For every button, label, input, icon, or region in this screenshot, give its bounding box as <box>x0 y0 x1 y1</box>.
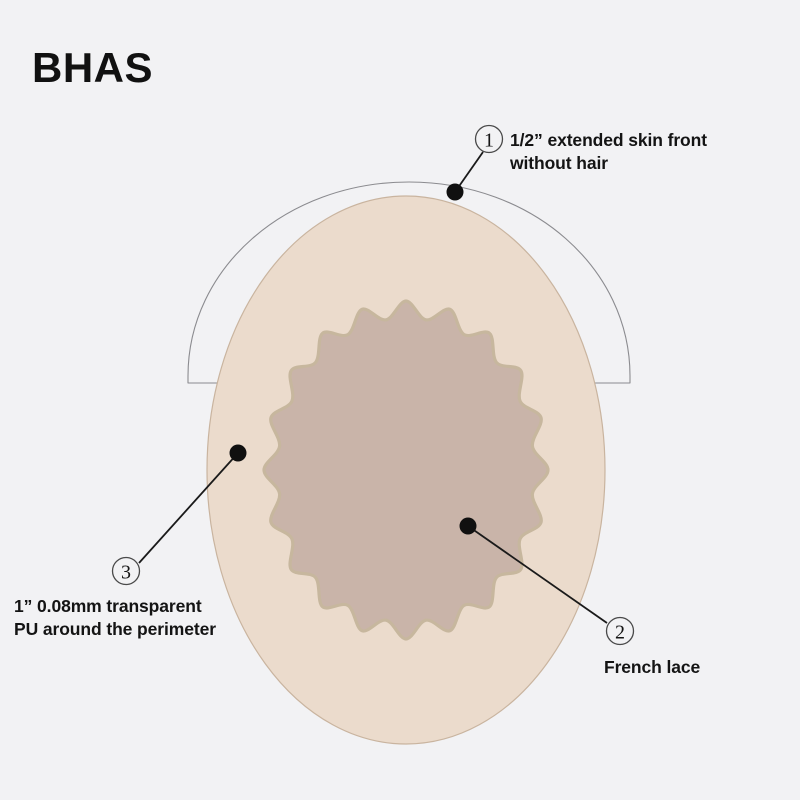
callout-badge-number-1: 1 <box>484 130 494 152</box>
callout-marker-dot-2[interactable] <box>460 518 477 535</box>
callout-label-1: 1/2” extended skin frontwithout hair <box>510 129 707 176</box>
callout-marker-dot-1[interactable] <box>447 184 464 201</box>
callout-badge-2[interactable]: 2 <box>607 618 634 645</box>
hair-system-diagram: 1 2 3 <box>0 0 800 800</box>
callout-badge-1[interactable]: 1 <box>476 126 503 153</box>
callout-badge-number-3: 3 <box>121 562 131 584</box>
diagram-canvas: BHAS 1 2 3 1/2” extended skin frontwitho <box>0 0 800 800</box>
callout-badge-3[interactable]: 3 <box>113 558 140 585</box>
callout-badge-number-2: 2 <box>615 622 625 644</box>
callout-marker-dot-3[interactable] <box>230 445 247 462</box>
callout-label-2: French lace <box>604 656 700 679</box>
callout-label-3: 1” 0.08mm transparentPU around the perim… <box>14 595 216 642</box>
